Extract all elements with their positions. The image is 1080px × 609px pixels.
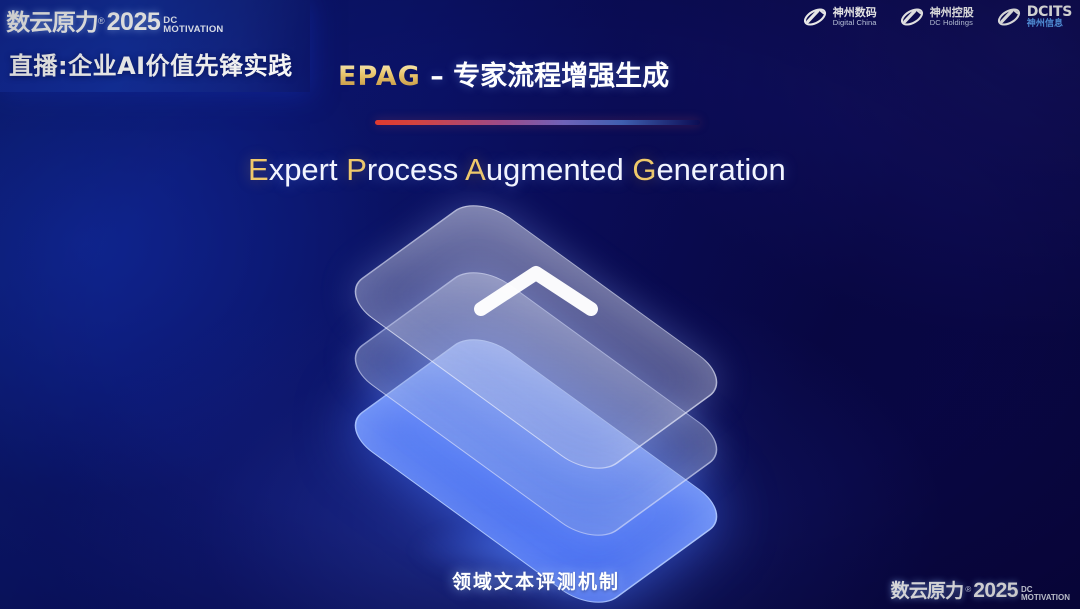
swoosh-icon [996, 4, 1022, 30]
subtitle-cap-e: E [248, 152, 269, 187]
partner-logo-line2: 神州信息 [1027, 20, 1072, 30]
live-banner-text: 直播:企业AI价值先锋实践 [9, 46, 293, 81]
brand-logo: 数云原力 ® 2025 DC MOTIVATION [8, 3, 224, 37]
subtitle-cap-p: P [346, 152, 367, 187]
watermark-dc-motivation: DC MOTIVATION [1021, 586, 1070, 603]
watermark-name: 数云原力 [891, 576, 964, 603]
gradient-divider [375, 120, 700, 125]
layered-stack-diagram: 领域文本评测机制 Dynamic MOE 长文本记忆 三类语义建模模块 [315, 237, 757, 573]
footer-watermark: 数云原力 ® 2025 DC MOTIVATION [891, 576, 1070, 603]
slide-canvas: 数云原力 ® 2025 DC MOTIVATION 直播:企业AI价值先锋实践 … [0, 0, 1080, 609]
subtitle-cap-g: G [632, 152, 656, 187]
swoosh-icon [899, 4, 925, 30]
partner-logo-line1: DCITS [1027, 5, 1072, 20]
subtitle-word-process: rocess [367, 152, 465, 187]
subtitle-word-expert: xpert [269, 152, 347, 187]
stack-layer-top[interactable] [315, 237, 757, 437]
watermark-motivation: MOTIVATION [1021, 594, 1070, 602]
subtitle-cap-a: A [465, 152, 486, 187]
partner-logo-text: 神州控股 DC Holdings [930, 7, 974, 27]
swoosh-icon [802, 4, 828, 30]
brand-registered-mark: ® [98, 16, 105, 26]
headline-chinese: – 专家流程增强生成 [421, 61, 669, 92]
slide-headline: EPAG – 专家流程增强生成 [338, 54, 669, 93]
brand-logo-motivation: MOTIVATION [163, 25, 223, 35]
partner-logo-dcits: DCITS 神州信息 [996, 4, 1072, 30]
partner-logo-group: 神州数码 Digital China 神州控股 DC Holdings [802, 4, 1072, 30]
partner-logo-dc-holdings: 神州控股 DC Holdings [899, 4, 974, 30]
headline-acronym: EPAG [338, 61, 421, 92]
partner-logo-text: DCITS 神州信息 [1027, 5, 1072, 30]
subtitle-word-generation: eneration [656, 152, 785, 187]
slide-subtitle: Expert Process Augmented Generation [248, 152, 786, 188]
brand-banner: 数云原力 ® 2025 DC MOTIVATION 直播:企业AI价值先锋实践 [0, 0, 310, 92]
watermark-year: 2025 [973, 579, 1018, 603]
brand-logo-name: 数云原力 [6, 3, 98, 37]
stack-label-top: 领域文本评测机制 [315, 567, 757, 594]
partner-logo-line2: Digital China [833, 19, 877, 27]
brand-logo-dc-motivation: DC MOTIVATION [163, 16, 223, 37]
partner-logo-text: 神州数码 Digital China [833, 7, 877, 27]
subtitle-word-augmented: ugmented [486, 152, 633, 187]
partner-logo-line2: DC Holdings [930, 19, 974, 27]
watermark-registered-mark: ® [965, 585, 971, 594]
partner-logo-digital-china: 神州数码 Digital China [802, 4, 877, 30]
brand-logo-year: 2025 [107, 8, 161, 37]
